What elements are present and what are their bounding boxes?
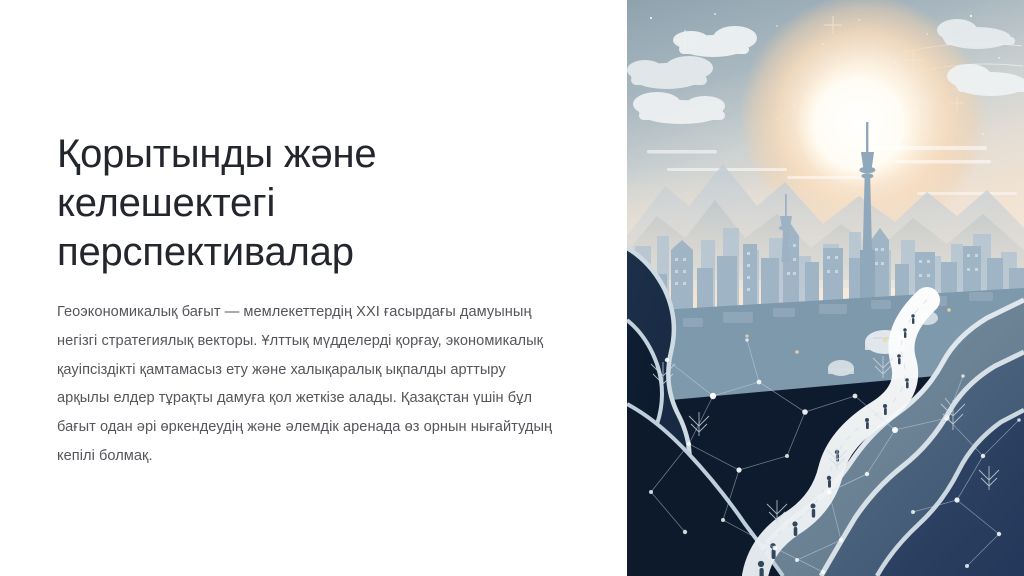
text-column: Қорытынды және келешектегі перспективала…	[57, 0, 567, 576]
page-title: Қорытынды және келешектегі перспективала…	[57, 130, 487, 277]
futuristic-city-valley-illustration	[627, 0, 1024, 576]
sun-core	[797, 62, 921, 186]
presentation-slide: Қорытынды және келешектегі перспективала…	[0, 0, 1024, 576]
tree	[689, 412, 709, 436]
body-paragraph: Геоэкономикалық бағыт — мемлекеттердің X…	[57, 298, 557, 471]
illustration-panel	[627, 0, 1024, 576]
